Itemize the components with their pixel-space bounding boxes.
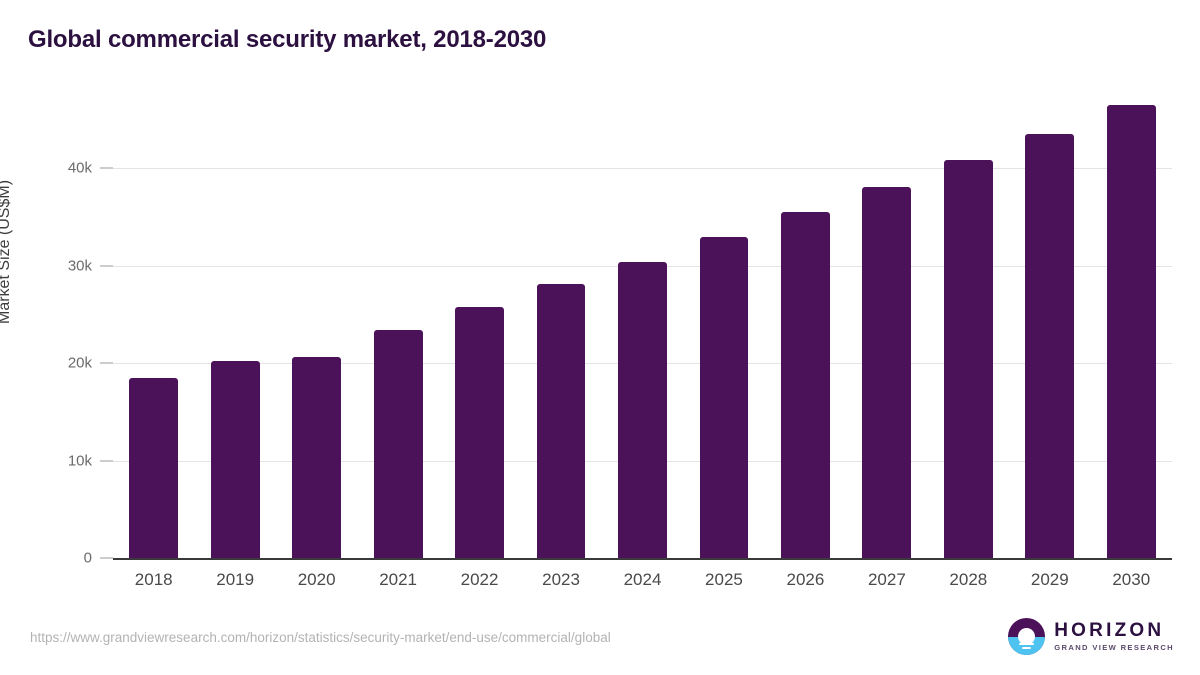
x-tick-label: 2019 bbox=[216, 570, 254, 590]
bar[interactable] bbox=[537, 284, 586, 558]
x-tick-label: 2024 bbox=[624, 570, 662, 590]
bar[interactable] bbox=[455, 307, 504, 558]
y-tick-label: 30k bbox=[22, 257, 92, 274]
y-tick-label: 10k bbox=[22, 452, 92, 469]
bar[interactable] bbox=[944, 160, 993, 558]
x-tick-label: 2027 bbox=[868, 570, 906, 590]
bar[interactable] bbox=[781, 212, 830, 558]
bar[interactable] bbox=[618, 262, 667, 558]
x-tick-label: 2028 bbox=[949, 570, 987, 590]
y-tick-mark bbox=[100, 363, 113, 364]
logo-tagline: GRAND VIEW RESEARCH bbox=[1054, 643, 1174, 652]
y-tick-mark bbox=[100, 265, 113, 266]
x-tick-label: 2025 bbox=[705, 570, 743, 590]
logo-sun-shape bbox=[1018, 628, 1035, 645]
x-axis-line bbox=[113, 558, 1172, 560]
page-title: Global commercial security market, 2018-… bbox=[28, 26, 546, 54]
y-tick-mark bbox=[100, 558, 113, 559]
bar[interactable] bbox=[1107, 105, 1156, 558]
x-tick-label: 2023 bbox=[542, 570, 580, 590]
y-axis-title: Market Size (US$M) bbox=[0, 180, 14, 324]
brand-logo: HORIZON GRAND VIEW RESEARCH bbox=[1008, 618, 1174, 655]
y-tick-mark bbox=[100, 168, 113, 169]
bar[interactable] bbox=[374, 330, 423, 558]
y-tick-label: 20k bbox=[22, 355, 92, 372]
bar-series bbox=[113, 90, 1172, 558]
y-tick-label: 0 bbox=[22, 550, 92, 567]
x-tick-label: 2018 bbox=[135, 570, 173, 590]
bar[interactable] bbox=[129, 378, 178, 558]
y-tick-mark bbox=[100, 460, 113, 461]
x-tick-label: 2020 bbox=[298, 570, 336, 590]
logo-ray-long bbox=[1019, 643, 1034, 645]
logo-name: HORIZON bbox=[1054, 621, 1174, 641]
chart-card: Global commercial security market, 2018-… bbox=[0, 0, 1200, 675]
x-tick-label: 2030 bbox=[1112, 570, 1150, 590]
bar[interactable] bbox=[700, 237, 749, 558]
bar[interactable] bbox=[862, 187, 911, 558]
x-tick-label: 2026 bbox=[787, 570, 825, 590]
bar[interactable] bbox=[1025, 134, 1074, 558]
y-tick-label: 40k bbox=[22, 160, 92, 177]
bar[interactable] bbox=[292, 357, 341, 558]
x-tick-label: 2022 bbox=[461, 570, 499, 590]
bar[interactable] bbox=[211, 361, 260, 558]
horizon-sun-circle-icon bbox=[1008, 618, 1045, 655]
logo-text-block: HORIZON GRAND VIEW RESEARCH bbox=[1054, 621, 1174, 652]
source-url[interactable]: https://www.grandviewresearch.com/horizo… bbox=[30, 630, 611, 645]
x-tick-label: 2029 bbox=[1031, 570, 1069, 590]
x-tick-label: 2021 bbox=[379, 570, 417, 590]
